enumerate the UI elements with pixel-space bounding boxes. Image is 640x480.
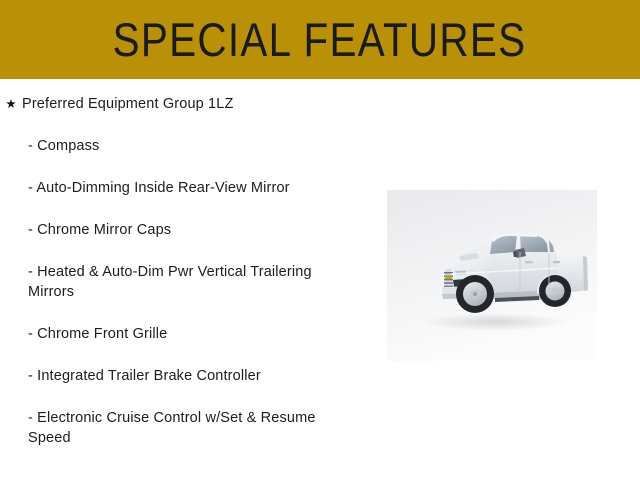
star-bullet-icon: ★ [0,94,22,114]
feature-item-sub: - Electronic Cruise Control w/Set & Resu… [0,386,372,448]
feature-label: - Electronic Cruise Control w/Set & Resu… [28,408,372,448]
feature-item-sub: - Heated & Auto-Dim Pwr Vertical Trailer… [0,240,372,302]
feature-label: - Heated & Auto-Dim Pwr Vertical Trailer… [28,262,372,302]
feature-list: ★Preferred Equipment Group 1LZ- Compass-… [0,79,372,448]
vehicle-photo [387,190,597,361]
feature-label: - Auto-Dimming Inside Rear-View Mirror [28,178,372,198]
feature-label: - Compass [28,136,372,156]
feature-label: - Integrated Trailer Brake Controller [28,366,372,386]
content-area: ★Preferred Equipment Group 1LZ- Compass-… [0,79,640,480]
feature-item-sub: - Chrome Front Grille [0,302,372,344]
feature-item-sub: - Compass [0,114,372,156]
page-title: SPECIAL FEATURES [113,16,527,63]
header-band: SPECIAL FEATURES [0,0,640,79]
slide-root: SPECIAL FEATURES ★Preferred Equipment Gr… [0,0,640,480]
feature-label: Preferred Equipment Group 1LZ [22,94,372,114]
feature-item-sub: - Auto-Dimming Inside Rear-View Mirror [0,156,372,198]
feature-label: - Chrome Mirror Caps [28,220,372,240]
feature-label: - Chrome Front Grille [28,324,372,344]
feature-item-primary: ★Preferred Equipment Group 1LZ [0,79,372,114]
feature-item-sub: - Chrome Mirror Caps [0,198,372,240]
feature-item-sub: - Integrated Trailer Brake Controller [0,344,372,386]
